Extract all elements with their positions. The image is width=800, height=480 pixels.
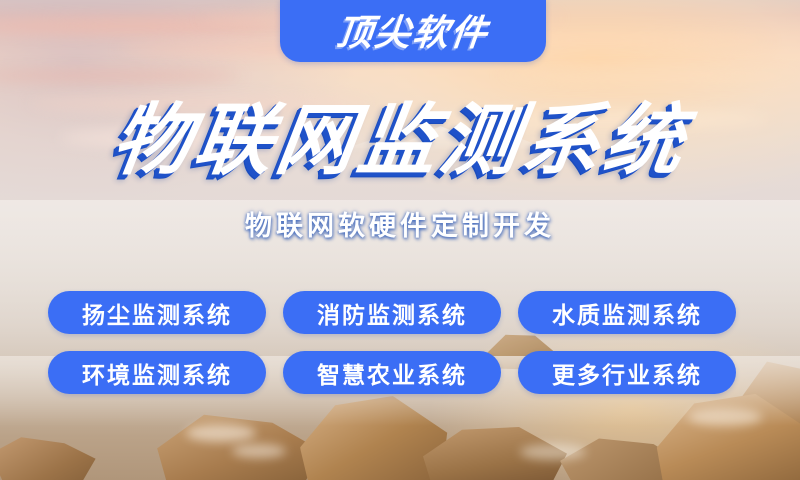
category-button-dust-monitoring[interactable]: 扬尘监测系统: [48, 291, 266, 334]
cloud-streak-icon: [500, 70, 800, 82]
promo-banner: 顶尖软件 物联网监测系统 物联网软硬件定制开发 扬尘监测系统 消防监测系统 水质…: [0, 0, 800, 480]
category-button-water-quality-monitoring[interactable]: 水质监测系统: [518, 291, 736, 334]
category-button-fire-monitoring[interactable]: 消防监测系统: [283, 291, 501, 334]
category-button-environment-monitoring[interactable]: 环境监测系统: [48, 351, 266, 394]
category-button-smart-agriculture[interactable]: 智慧农业系统: [283, 351, 501, 394]
rock-highlight: [232, 444, 286, 458]
category-button-more-industries[interactable]: 更多行业系统: [518, 351, 736, 394]
rock-highlight: [186, 424, 256, 442]
rock-highlight: [520, 444, 586, 460]
page-subtitle: 物联网软硬件定制开发: [0, 208, 800, 244]
brand-badge-label: 顶尖软件: [334, 4, 491, 56]
brand-badge: 顶尖软件: [280, 0, 546, 62]
page-title: 物联网监测系统: [0, 96, 800, 184]
category-button-grid: 扬尘监测系统 消防监测系统 水质监测系统 环境监测系统 智慧农业系统 更多行业系…: [48, 291, 758, 394]
